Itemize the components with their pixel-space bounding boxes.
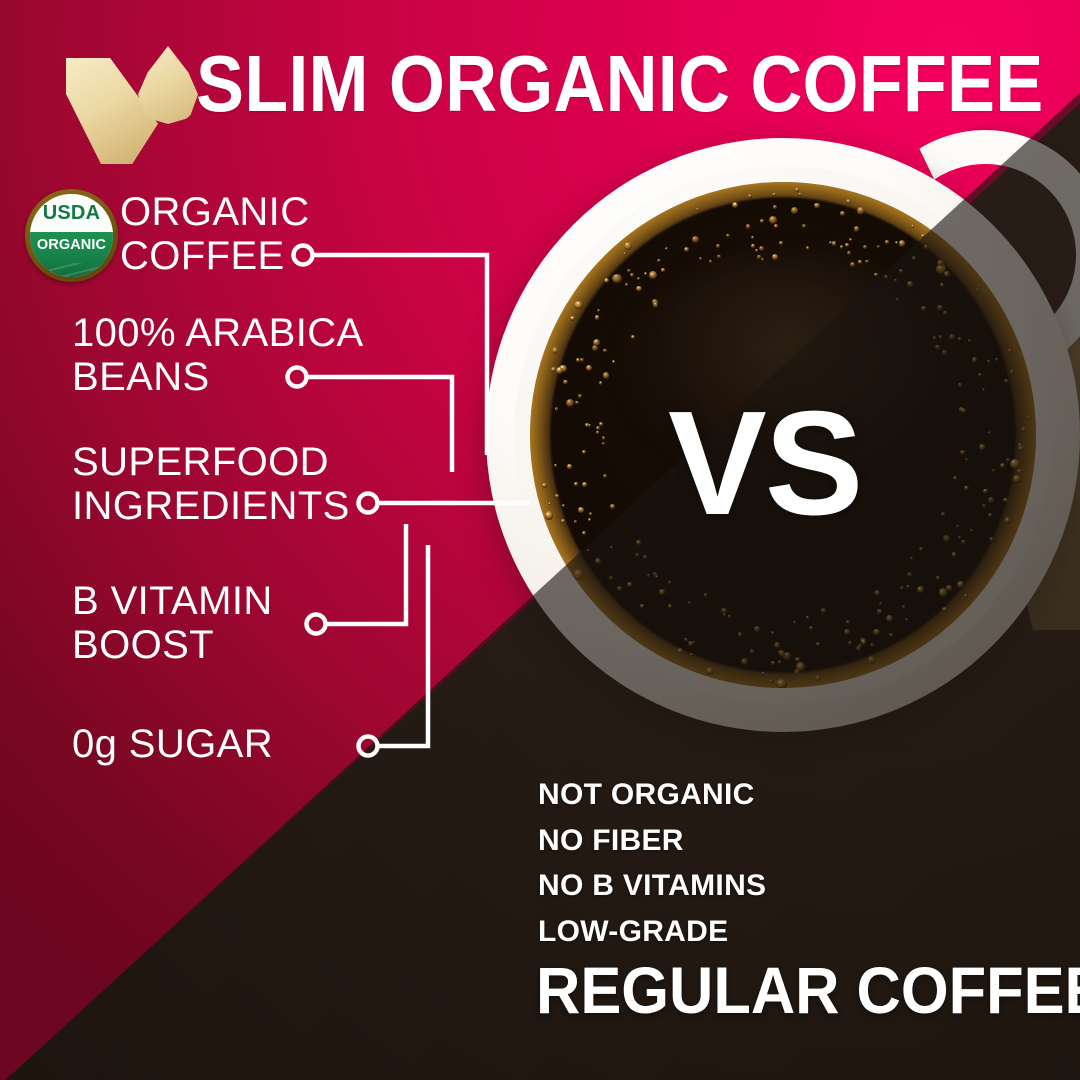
usda-seal-top: USDA — [30, 194, 113, 232]
leader-dot-sugar — [359, 737, 378, 756]
con-item: NO FIBER — [538, 818, 766, 864]
con-item: NOT ORGANIC — [538, 772, 766, 818]
brand-logo-icon — [58, 36, 188, 166]
leader-dot-bvitamin — [307, 615, 326, 634]
feature-label-b-vitamin-boost: B VITAMIN BOOST — [72, 580, 273, 667]
usda-seal-bottom: ORGANIC — [30, 232, 113, 277]
con-item: NO B VITAMINS — [538, 863, 766, 909]
usda-seal-face: USDA ORGANIC — [30, 194, 113, 277]
usda-organic-seal-icon: USDA ORGANIC — [25, 189, 118, 282]
feature-label-arabica-beans: 100% ARABICA BEANS — [72, 312, 364, 399]
versus-label: VS — [668, 379, 861, 549]
regular-coffee-cons-list: NOT ORGANIC NO FIBER NO B VITAMINS LOW-G… — [538, 772, 766, 954]
feature-label-zero-sugar: 0g SUGAR — [72, 723, 273, 767]
poster-canvas: SLIM ORGANIC COFFEE USDA ORGANIC ORGANIC… — [0, 0, 1080, 1080]
usda-seal-top-label: USDA — [43, 202, 100, 225]
page-title: SLIM ORGANIC COFFEE — [196, 44, 1043, 124]
usda-seal-bottom-label: ORGANIC — [37, 237, 106, 253]
feature-label-organic-coffee: ORGANIC COFFEE — [120, 191, 309, 278]
con-item: LOW-GRADE — [538, 909, 766, 955]
leader-dot-superfood — [359, 494, 378, 513]
feature-label-superfood: SUPERFOOD INGREDIENTS — [72, 441, 350, 528]
leader-sugar — [377, 545, 428, 746]
regular-coffee-title: REGULAR COFFEE — [536, 957, 1080, 1023]
leader-bvitamin — [325, 524, 406, 624]
